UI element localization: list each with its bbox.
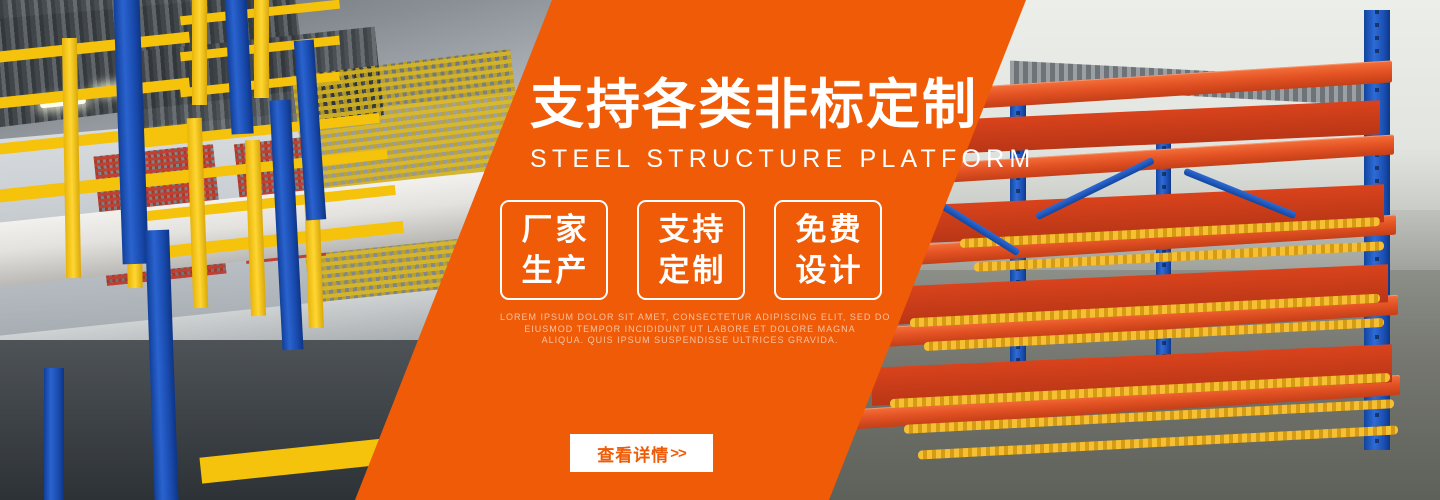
chevron-right-double-icon: >> [670, 445, 686, 462]
feature-badge-free-design[interactable]: 免费 设计 [774, 200, 882, 300]
view-details-button[interactable]: 查看详情 >> [570, 434, 713, 472]
description-line-2: EIUSMOD TEMPOR INCIDIDUNT UT LABORE ET D… [500, 324, 880, 336]
description-line-1: LOREM IPSUM DOLOR SIT AMET, CONSECTETUR … [500, 312, 880, 324]
banner-subtitle: STEEL STRUCTURE PLATFORM [530, 145, 1035, 173]
banner-content: 支持各类非标定制 STEEL STRUCTURE PLATFORM 厂家 生产 … [0, 0, 1440, 500]
promo-banner: 支持各类非标定制 STEEL STRUCTURE PLATFORM 厂家 生产 … [0, 0, 1440, 500]
badge-line-2: 设计 [793, 250, 864, 291]
badge-line-1: 厂家 [519, 209, 590, 250]
badge-line-2: 生产 [519, 250, 590, 291]
description-line-3: ALIQUA. QUIS IPSUM SUSPENDISSE ULTRICES … [500, 335, 880, 347]
page-title: 支持各类非标定制 [530, 74, 960, 136]
badge-line-1: 免费 [793, 209, 864, 250]
badge-line-1: 支持 [656, 209, 727, 250]
feature-badge-row: 厂家 生产 支持 定制 免费 设计 [500, 200, 882, 300]
view-details-label: 查看详情 [597, 441, 669, 466]
badge-line-2: 定制 [656, 250, 727, 291]
description-text: LOREM IPSUM DOLOR SIT AMET, CONSECTETUR … [500, 312, 880, 347]
feature-badge-manufacturer[interactable]: 厂家 生产 [500, 200, 608, 300]
feature-badge-customization[interactable]: 支持 定制 [637, 200, 745, 300]
